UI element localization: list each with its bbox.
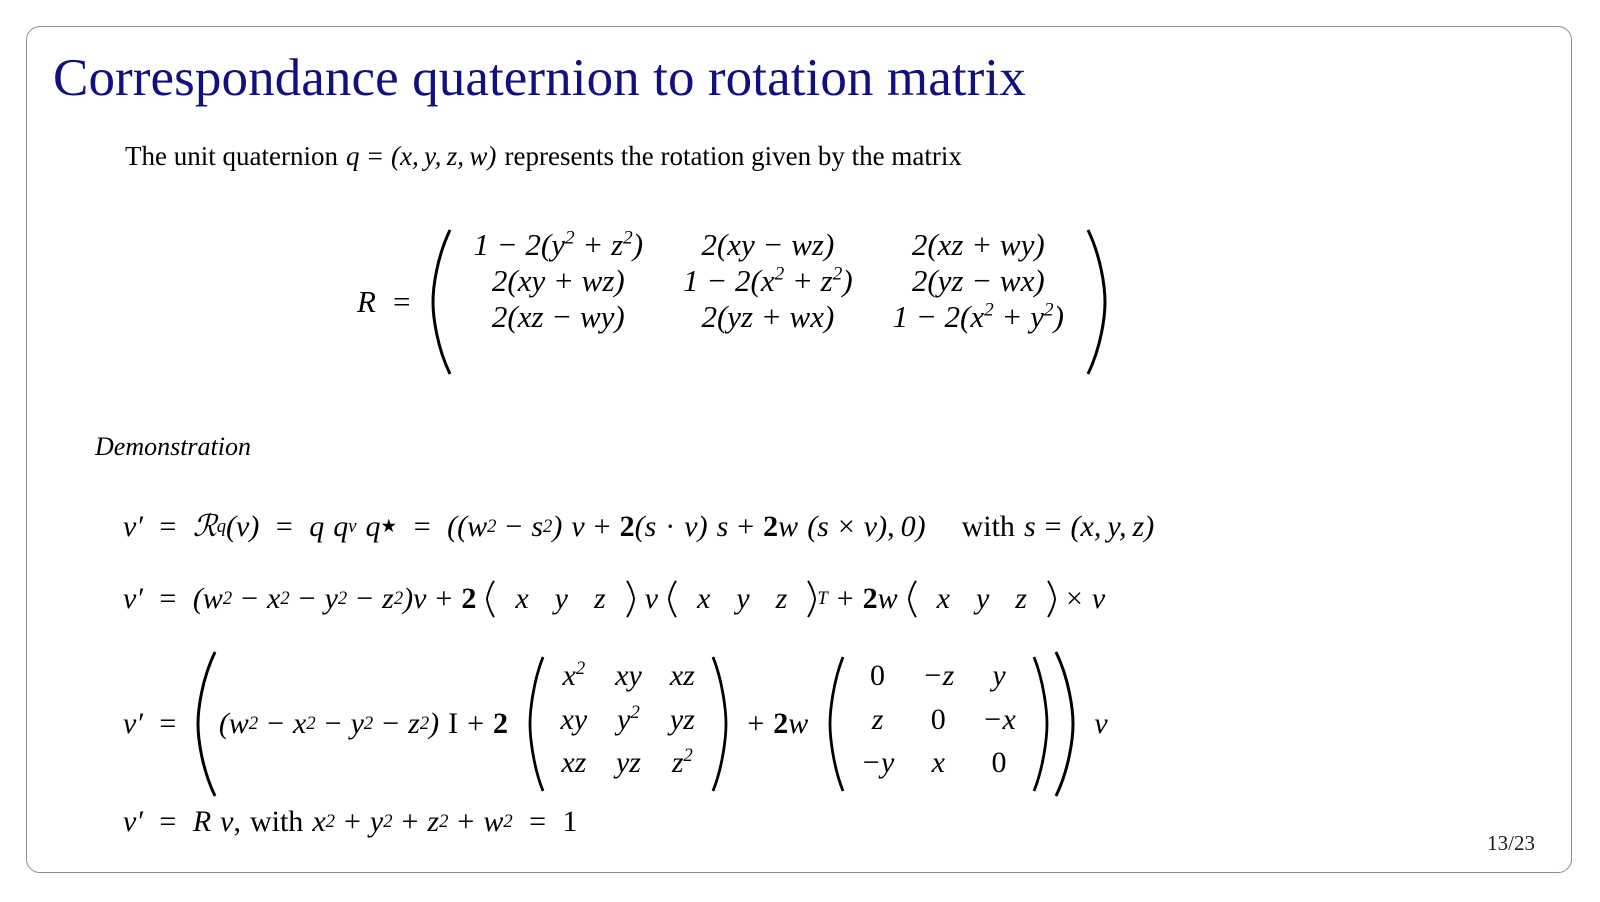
paren-left-icon (825, 654, 847, 794)
cell-o1c2: yz (656, 698, 709, 742)
outer-product-matrix: x2 xy xz xy y2 yz xz yz (525, 654, 731, 794)
cell-r2c1: 2(yz + wx) (663, 299, 873, 335)
rotation-matrix-equation: R= 1 − 2(y2 + z2) 2(xy − wz) 2(xz + wy) … (357, 227, 1110, 377)
demonstration-line-1: v′=ℛq(v)=qqvq★=((w2−s2)v+2(s·v)s+2w(s×v)… (123, 509, 1154, 544)
demonstration-label: Demonstration (95, 432, 251, 462)
intro-q-components: (x, y, z, w) (391, 141, 496, 171)
rotation-matrix-equals: = (393, 284, 410, 320)
outer-product-matrix-body: x2 xy xz xy y2 yz xz yz (547, 654, 709, 794)
cell-r0c2: 2(xz + wy) (873, 227, 1084, 263)
table-row: 1 − 2(y2 + z2) 2(xy − wz) 2(xz + wy) (454, 227, 1084, 263)
cell-s2c0: −y (847, 741, 909, 785)
cell-o0c2: xz (656, 654, 709, 698)
demonstration-line-4: v′=Rv,withx2+y2+z2+w2=1 (123, 805, 578, 839)
cell-s1c1: 0 (908, 698, 968, 742)
paren-left-icon (193, 649, 219, 799)
cell-o1c1: y2 (601, 698, 656, 742)
table-row: −y x 0 (847, 741, 1030, 785)
paren-left-icon (428, 227, 454, 377)
cell-s0c2: y (968, 654, 1030, 698)
row-vector-2: xyz (667, 579, 817, 619)
identity-symbol: I (448, 707, 458, 741)
cell-s2c2: 0 (968, 741, 1030, 785)
intro-q-symbol: q (346, 141, 360, 171)
cell-s0c0: 0 (847, 654, 909, 698)
demonstration-line-2: v′=(w2−x2−y2−z2)v+2 xyz v xyz T+2w xyz ×… (123, 579, 1105, 619)
cell-o0c0: x2 (547, 654, 602, 698)
cell-r0c0: 1 − 2(y2 + z2) (454, 227, 664, 263)
table-row: 2(xz − wy) 2(yz + wx) 1 − 2(x2 + y2) (454, 299, 1084, 335)
intro-text-after: represents the rotation given by the mat… (505, 141, 962, 171)
cell-r0c1: 2(xy − wz) (663, 227, 873, 263)
cell-s0c1: −z (908, 654, 968, 698)
table-row: xy y2 yz (547, 698, 709, 742)
slide-frame: Correspondance quaternion to rotation ma… (26, 26, 1572, 873)
cell-s1c2: −x (968, 698, 1030, 742)
table-row: x2 xy xz (547, 654, 709, 698)
paren-right-icon (1052, 649, 1078, 799)
rotation-matrix: 1 − 2(y2 + z2) 2(xy − wz) 2(xz + wy) 2(x… (428, 227, 1110, 377)
skew-symmetric-matrix: 0 −z y z 0 −x −y x (825, 654, 1052, 794)
cell-r1c0: 2(xy + wz) (454, 263, 664, 299)
demonstration-line-3: v′= (w2−x2−y2−z2)I+2 x2 xy (123, 649, 1108, 799)
table-row: 0 −z y (847, 654, 1030, 698)
paren-left-icon (485, 579, 496, 619)
line3-outer-group: (w2−x2−y2−z2)I+2 x2 xy xz (193, 649, 1078, 799)
paren-right-icon (1046, 579, 1057, 619)
cell-r2c0: 2(xz − wy) (454, 299, 664, 335)
page-number: 13/23 (1487, 831, 1535, 856)
page-title: Correspondance quaternion to rotation ma… (53, 51, 1026, 107)
cell-o2c1: yz (601, 741, 656, 785)
cell-r2c2: 1 − 2(x2 + y2) (873, 299, 1084, 335)
cell-o2c2: z2 (656, 741, 709, 785)
rotation-matrix-body: 1 − 2(y2 + z2) 2(xy − wz) 2(xz + wy) 2(x… (454, 227, 1084, 377)
intro-sentence: The unit quaternionq=(x, y, z, w)represe… (125, 141, 962, 172)
table-row: xz yz z2 (547, 741, 709, 785)
intro-equals: = (368, 141, 383, 171)
paren-left-icon (525, 654, 547, 794)
paren-right-icon (625, 579, 636, 619)
intro-text-before: The unit quaternion (125, 141, 338, 171)
cell-o2c0: xz (547, 741, 602, 785)
paren-left-icon (667, 579, 678, 619)
paren-right-icon (1084, 227, 1110, 377)
row-vector-1: xyz (485, 579, 635, 619)
table-row: 2(xy + wz) 1 − 2(x2 + z2) 2(yz − wx) (454, 263, 1084, 299)
paren-right-icon (806, 579, 817, 619)
paren-right-icon (709, 654, 731, 794)
table-row: z 0 −x (847, 698, 1030, 742)
cell-o1c0: xy (547, 698, 602, 742)
cell-r1c1: 1 − 2(x2 + z2) (663, 263, 873, 299)
skew-symmetric-matrix-body: 0 −z y z 0 −x −y x (847, 654, 1030, 794)
cell-s2c1: x (908, 741, 968, 785)
cell-r1c2: 2(yz − wx) (873, 263, 1084, 299)
line3-suffix-v: v (1094, 707, 1107, 741)
rotation-matrix-label: R (357, 284, 376, 320)
cell-o0c1: xy (601, 654, 656, 698)
paren-right-icon (1030, 654, 1052, 794)
paren-left-icon (907, 579, 918, 619)
row-vector-3: xyz (907, 579, 1057, 619)
cell-s1c0: z (847, 698, 909, 742)
